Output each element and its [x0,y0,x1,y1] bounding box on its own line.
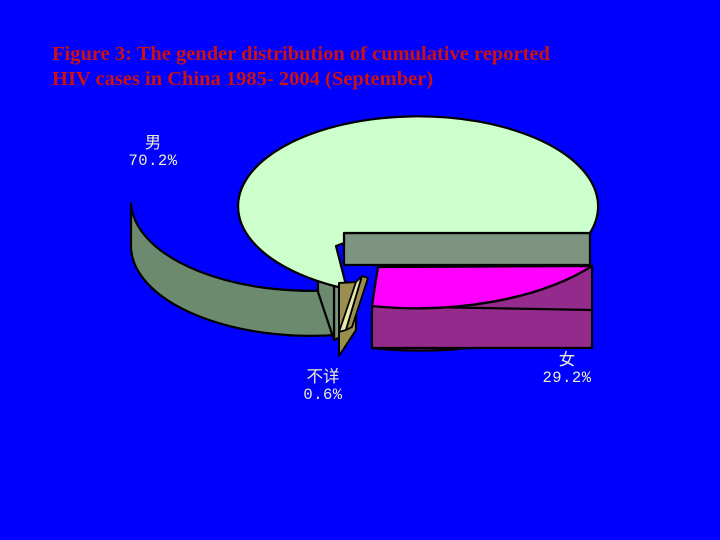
pie-slice-male-back-wall [344,233,590,265]
pie-label-unknown: 不详 0.6% [283,367,363,405]
pie-slice-female-cut-face [372,306,592,348]
pie-chart-3d [0,0,720,540]
pie-label-male-percent: 70.2% [118,152,188,171]
pie-label-female: 女 29.2% [527,350,607,388]
slide-canvas: Figure 3: The gender distribution of cum… [0,0,720,540]
pie-label-male: 男 70.2% [118,133,188,171]
pie-label-female-category: 女 [527,350,607,369]
pie-label-unknown-percent: 0.6% [283,386,363,405]
pie-label-female-percent: 29.2% [527,369,607,388]
pie-label-unknown-category: 不详 [283,367,363,386]
pie-label-male-category: 男 [118,133,188,152]
